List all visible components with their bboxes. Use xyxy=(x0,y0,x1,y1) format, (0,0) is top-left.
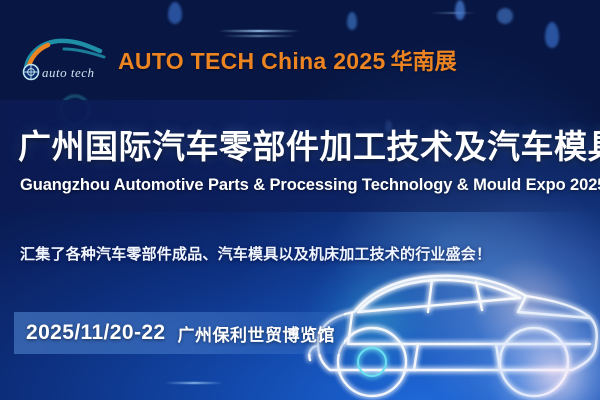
light-streak-icon xyxy=(218,30,300,32)
particle-icon xyxy=(545,22,559,48)
particle-icon xyxy=(497,8,513,24)
date-venue-row: 2025/11/20-22 广州保利世贸博览馆 xyxy=(26,318,335,348)
headline-cn: 华南展 xyxy=(391,49,457,74)
particle-icon xyxy=(168,2,182,24)
light-streak-icon xyxy=(165,382,223,384)
particle-icon xyxy=(347,12,357,30)
headline-en: AUTO TECH China 2025 xyxy=(118,48,386,74)
event-venue: 广州保利世贸博览馆 xyxy=(178,321,336,346)
expo-promo-banner: auto tech AUTO TECH China 2025华南展 广州国际汽车… xyxy=(0,0,600,400)
tagline-text: 汇集了各种汽车零部件成品、汽车模具以及机床加工技术的行业盛会！ xyxy=(20,243,595,264)
auto-tech-globe-car-logo: auto tech xyxy=(18,37,110,83)
page-title: 广州国际汽车零部件加工技术及汽车模具展览会 xyxy=(18,120,588,168)
particle-icon xyxy=(455,0,465,20)
light-streak-icon xyxy=(430,12,476,14)
headline-text: AUTO TECH China 2025华南展 xyxy=(118,44,457,76)
banner-header: auto tech AUTO TECH China 2025华南展 xyxy=(18,36,457,84)
svg-text:auto tech: auto tech xyxy=(42,65,95,80)
event-date: 2025/11/20-22 xyxy=(26,321,166,345)
page-subtitle: Guangzhou Automotive Parts & Processing … xyxy=(20,176,595,195)
